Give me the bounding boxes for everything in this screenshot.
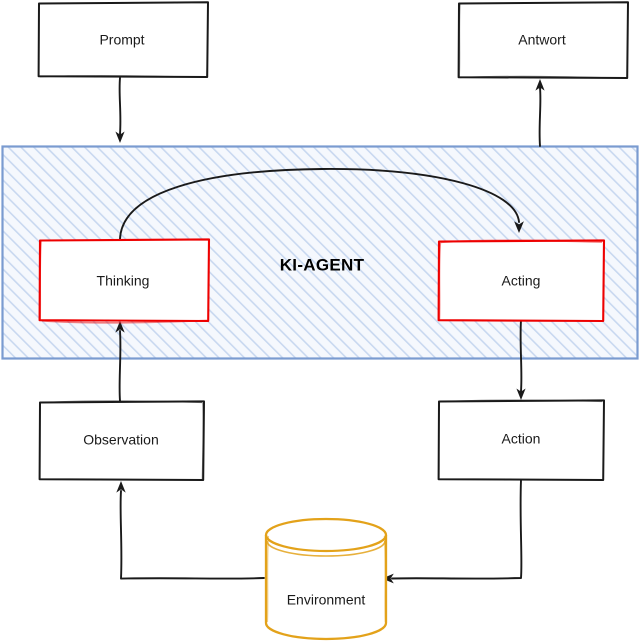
agent-loop-diagram: KI-AGENT xyxy=(0,0,641,641)
node-observation-label: Observation xyxy=(83,432,158,448)
diagram-canvas: KI-AGENT xyxy=(0,0,641,641)
edge-action-to-environment xyxy=(382,480,521,583)
node-thinking[interactable]: Thinking xyxy=(40,239,210,323)
edge-environment-to-observation xyxy=(116,481,264,579)
node-antwort[interactable]: Antwort xyxy=(459,2,629,78)
ki-agent-title: KI-AGENT xyxy=(280,255,365,274)
node-action-label: Action xyxy=(502,431,541,447)
node-acting[interactable]: Acting xyxy=(439,240,605,321)
node-acting-sketch-left xyxy=(439,242,440,319)
node-action[interactable]: Action xyxy=(439,400,605,480)
node-environment[interactable]: Environment xyxy=(266,519,386,639)
node-prompt[interactable]: Prompt xyxy=(39,2,209,77)
node-thinking-label: Thinking xyxy=(97,273,150,289)
node-prompt-label: Prompt xyxy=(99,32,144,48)
node-acting-label: Acting xyxy=(502,273,541,289)
edge-prompt-to-thinking xyxy=(115,78,124,143)
edge-acting-to-antwort xyxy=(535,79,544,146)
node-antwort-sketch-left xyxy=(459,4,460,77)
node-antwort-label: Antwort xyxy=(518,32,566,48)
node-environment-label: Environment xyxy=(287,592,366,608)
node-observation[interactable]: Observation xyxy=(40,401,205,480)
